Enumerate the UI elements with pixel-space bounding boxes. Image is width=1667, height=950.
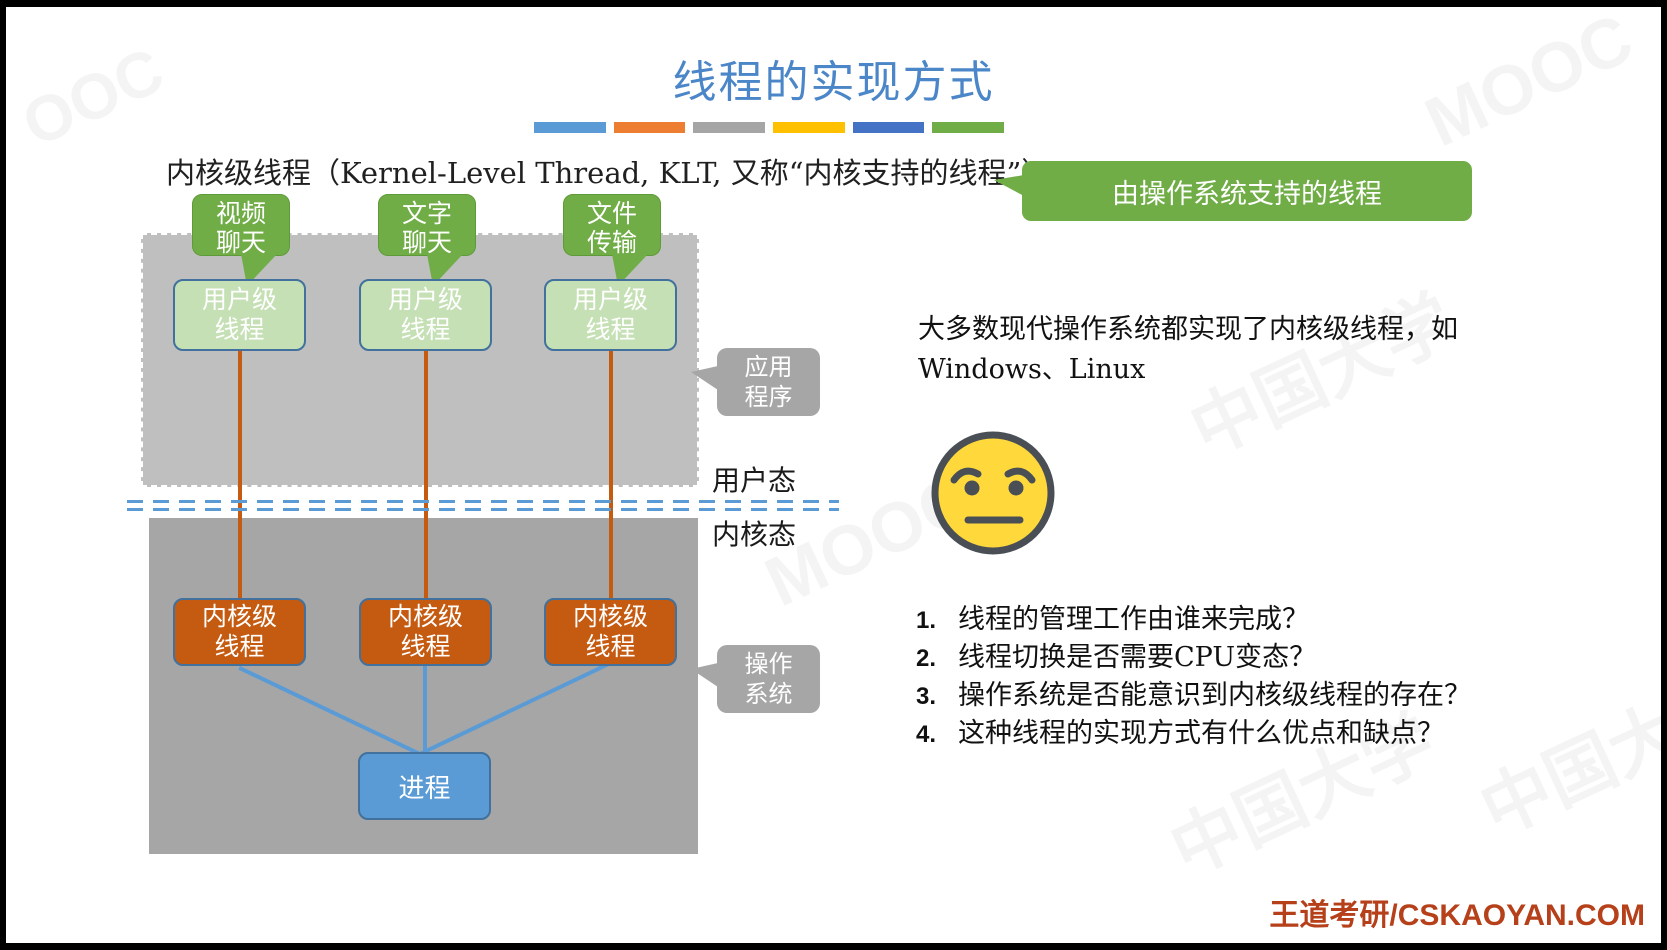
page-title: 线程的实现方式 (0, 46, 1667, 110)
os-support-callout: 由操作系统支持的线程 (1022, 161, 1472, 221)
rule-segment-3 (693, 122, 765, 133)
description-line2: Windows、Linux (918, 350, 1538, 390)
node-line1: 内核级 (388, 602, 463, 632)
process-node-label: 进程 (398, 768, 450, 805)
app-callout-line1: 文件 (564, 199, 660, 228)
rule-segment-5 (853, 122, 925, 133)
connector-orange-1 (238, 349, 242, 600)
slide-canvas: OOC 中国大学 MOOC 中国大学 MOOC 中国大学 中国大学 线程的实现方… (0, 0, 1667, 950)
question-number: 4. (916, 721, 958, 749)
operating-system-callout-line2: 系统 (745, 679, 793, 709)
rule-segment-2 (614, 122, 686, 133)
description-paragraph: 大多数现代操作系统都实现了内核级线程，如 Windows、Linux (918, 310, 1538, 390)
question-text: 线程的管理工作由谁来完成？ (958, 597, 1309, 636)
question-number: 2. (916, 645, 958, 673)
question-number: 1. (916, 607, 958, 635)
application-callout-line1: 应用 (745, 352, 793, 382)
app-callout-text-chat: 文字 聊天 (378, 194, 476, 256)
node-line1: 用户级 (388, 285, 463, 315)
app-callout-file-transfer: 文件 传输 (563, 194, 661, 256)
operating-system-callout: 操作 系统 (717, 645, 820, 713)
node-line2: 线程 (214, 315, 264, 345)
slide-border-right (1661, 0, 1667, 950)
node-line2: 线程 (585, 315, 635, 345)
operating-system-callout-line1: 操作 (745, 649, 793, 679)
callout-tail (691, 366, 718, 390)
kernel-level-thread-node-3: 内核级 线程 (544, 598, 677, 666)
callout-tail (691, 663, 718, 687)
app-callout-line2: 聊天 (379, 228, 475, 257)
section-heading: 内核级线程（Kernel-Level Thread, KLT, 又称“内核支持的… (166, 150, 1050, 192)
app-callout-line1: 视频 (193, 199, 289, 228)
divider-line-1 (127, 500, 839, 503)
rule-segment-1 (534, 122, 606, 133)
connector-orange-2 (424, 349, 428, 600)
rule-segment-6 (932, 122, 1004, 133)
rule-segment-4 (773, 122, 845, 133)
face-with-raised-eyebrow-icon (928, 428, 1058, 558)
question-list: 1. 线程的管理工作由谁来完成？ 2. 线程切换是否需要CPU变态？ 3. 操作… (916, 597, 1556, 749)
node-line2: 线程 (585, 632, 635, 662)
kernel-mode-label: 内核态 (712, 513, 796, 553)
question-text: 操作系统是否能意识到内核级线程的存在？ (958, 673, 1471, 712)
application-callout-line2: 程序 (745, 382, 793, 412)
question-number: 3. (916, 683, 958, 711)
app-callout-line2: 聊天 (193, 228, 289, 257)
process-node: 进程 (358, 752, 491, 820)
node-line1: 内核级 (202, 602, 277, 632)
question-item: 3. 操作系统是否能意识到内核级线程的存在？ (916, 673, 1556, 711)
node-line2: 线程 (400, 632, 450, 662)
question-item: 4. 这种线程的实现方式有什么优点和缺点？ (916, 711, 1556, 749)
mode-divider (127, 500, 839, 512)
node-line1: 内核级 (573, 602, 648, 632)
description-line1: 大多数现代操作系统都实现了内核级线程，如 (918, 310, 1538, 350)
kernel-level-thread-node-2: 内核级 线程 (359, 598, 492, 666)
user-level-thread-node-3: 用户级 线程 (544, 279, 677, 351)
connector-blue-middle (423, 666, 427, 754)
divider-line-2 (127, 508, 839, 511)
question-item: 1. 线程的管理工作由谁来完成？ (916, 597, 1556, 635)
node-line2: 线程 (400, 315, 450, 345)
slide-border-left (0, 0, 6, 950)
question-item: 2. 线程切换是否需要CPU变态？ (916, 635, 1556, 673)
question-text: 线程切换是否需要CPU变态？ (958, 635, 1316, 674)
title-rule (534, 122, 1004, 133)
connector-orange-3 (609, 349, 613, 600)
app-callout-line1: 文字 (379, 199, 475, 228)
node-line2: 线程 (214, 632, 264, 662)
slide-border-bottom (0, 943, 1667, 950)
user-level-thread-node-2: 用户级 线程 (359, 279, 492, 351)
user-level-thread-node-1: 用户级 线程 (173, 279, 306, 351)
app-callout-video-chat: 视频 聊天 (192, 194, 290, 256)
footer-brand: 王道考研/CSKAOYAN.COM (1269, 890, 1645, 934)
question-text: 这种线程的实现方式有什么优点和缺点？ (958, 711, 1444, 750)
user-mode-label: 用户态 (712, 459, 796, 499)
node-line1: 用户级 (202, 285, 277, 315)
slide-border-top (0, 0, 1667, 7)
app-callout-line2: 传输 (564, 228, 660, 257)
node-line1: 用户级 (573, 285, 648, 315)
application-callout: 应用 程序 (717, 348, 820, 416)
kernel-level-thread-node-1: 内核级 线程 (173, 598, 306, 666)
os-support-callout-label: 由操作系统支持的线程 (1112, 172, 1382, 211)
